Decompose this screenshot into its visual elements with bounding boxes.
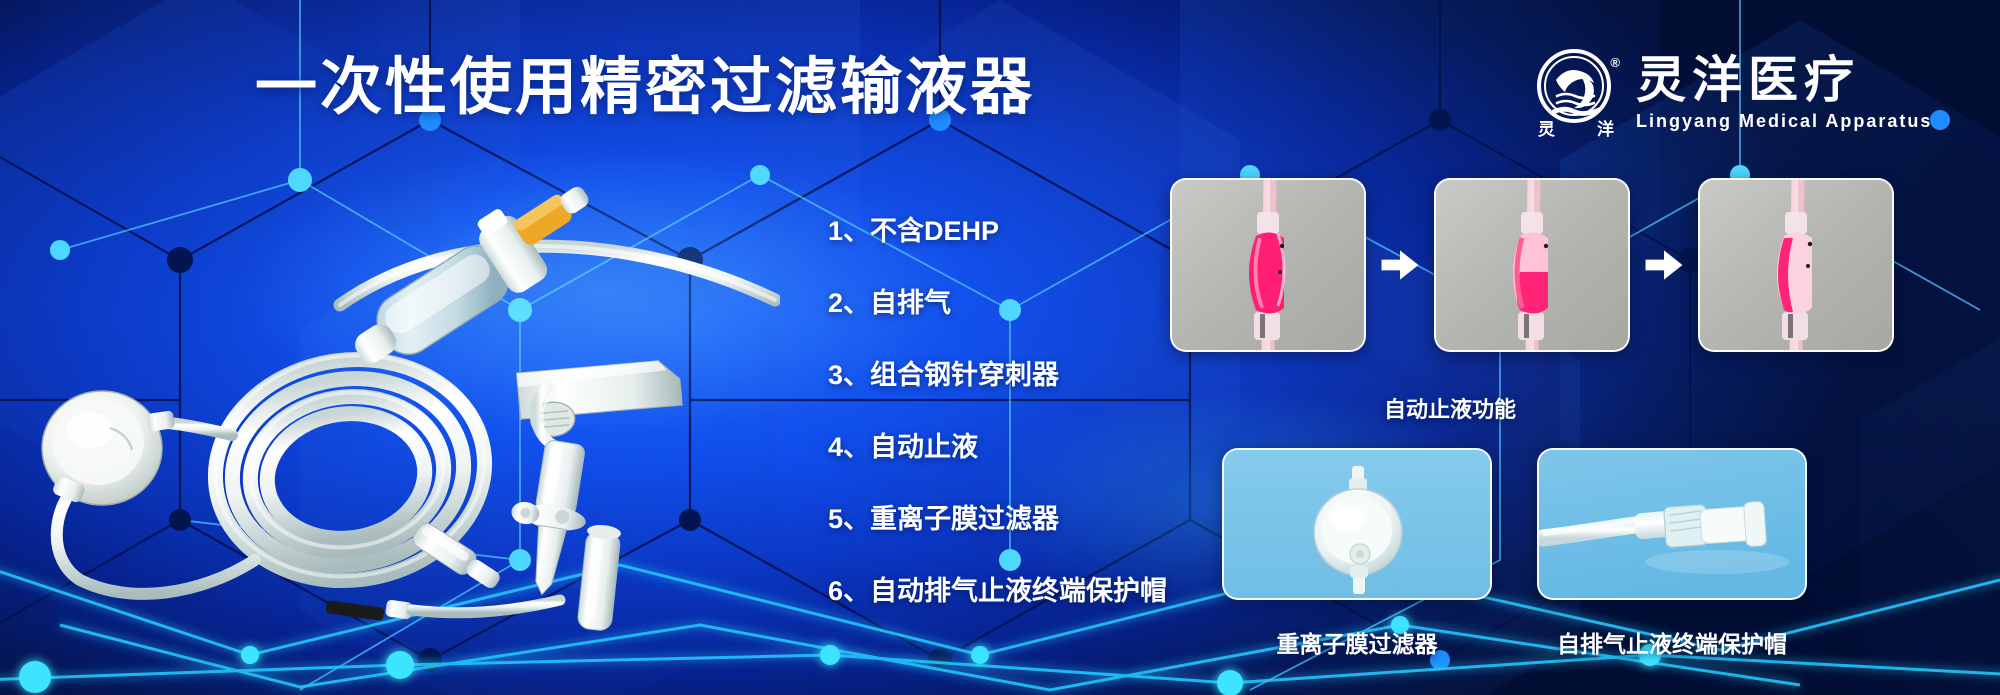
auto-stop-demo-caption: 自动止液功能 <box>1170 392 1730 424</box>
detail-card-filter <box>1222 448 1492 600</box>
demo-frame-1 <box>1170 178 1366 352</box>
logo-char-left: 灵 <box>1538 115 1555 140</box>
arrow-right-icon-2 <box>1630 178 1698 352</box>
round-filter <box>42 391 175 505</box>
feature-item-6: 6、自动排气止液终端保护帽 <box>828 578 1188 605</box>
brand-name-block: 灵洋医疗 Lingyang Medical Apparatus <box>1636 52 1932 132</box>
brand-logo: ® 灵 洋 灵洋医疗 Lingyang Medical Apparatus <box>1530 42 1932 142</box>
detail-card-caption-filter: 重离子膜过滤器 <box>1222 625 1492 659</box>
page-title: 一次性使用精密过滤输液器 <box>255 50 1045 126</box>
product-banner: 一次性使用精密过滤输液器 ® 灵 洋 灵洋医疗 Lingyang Medical… <box>0 0 2000 695</box>
tube-clip <box>325 599 413 621</box>
feature-item-1: 1、不含DEHP <box>828 218 1188 245</box>
product-photo <box>40 180 780 650</box>
detail-card-caption-end-cap: 自排气止液终端保护帽 <box>1537 625 1807 659</box>
detail-card-end-cap <box>1537 448 1807 600</box>
auto-stop-demo-row <box>1170 178 1894 352</box>
detail-card-row <box>1222 448 1807 600</box>
logo-char-right: 洋 <box>1597 115 1614 140</box>
brand-name-cn: 灵洋医疗 <box>1636 54 1932 107</box>
feature-item-3: 3、组合钢针穿刺器 <box>828 362 1188 389</box>
registered-trademark-icon: ® <box>1610 56 1620 69</box>
feature-item-2: 2、自排气 <box>828 290 1188 317</box>
demo-frame-3 <box>1698 178 1894 352</box>
feature-list: 1、不含DEHP 2、自排气 3、组合钢针穿刺器 4、自动止液 5、重离子膜过滤… <box>828 218 1188 605</box>
logo-sub-characters: 灵 洋 <box>1530 115 1622 140</box>
logo-emblem-icon: ® 灵 洋 <box>1530 44 1622 140</box>
brand-name-en: Lingyang Medical Apparatus <box>1636 111 1932 132</box>
arrow-right-icon-1 <box>1366 178 1434 352</box>
demo-frame-2 <box>1434 178 1630 352</box>
feature-item-5: 5、重离子膜过滤器 <box>828 506 1188 533</box>
feature-item-4: 4、自动止液 <box>828 434 1188 461</box>
